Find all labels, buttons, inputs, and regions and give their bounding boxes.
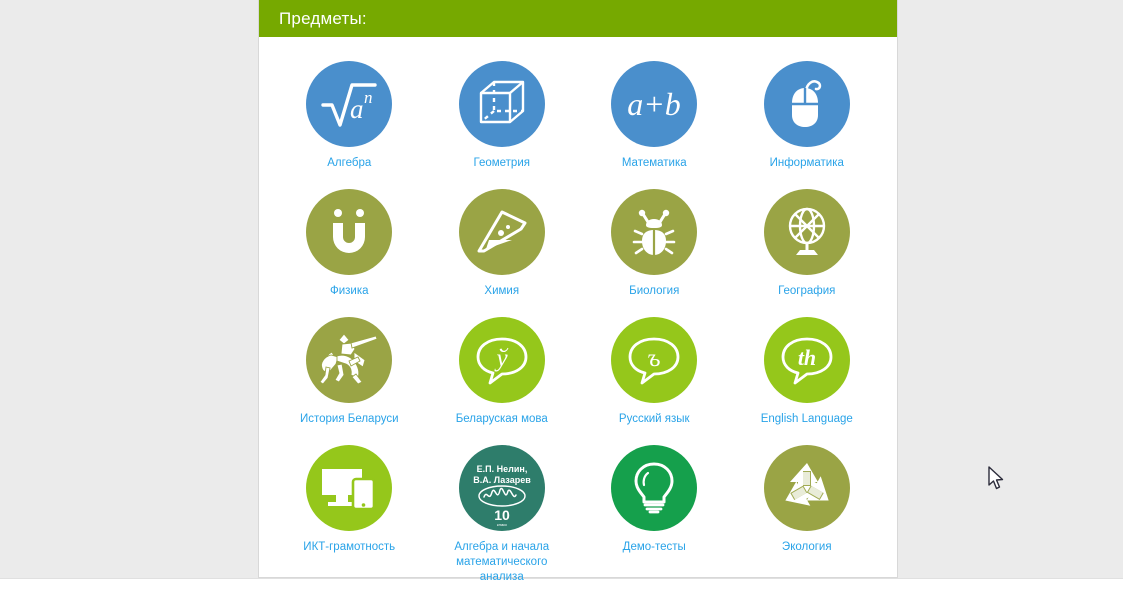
subject-label: Геометрия	[474, 156, 530, 171]
subject-icon-circle	[459, 189, 545, 275]
magnet-icon	[325, 206, 373, 258]
subject-icon-circle	[306, 189, 392, 275]
textbook-authors-line1: Е.П. Нелин,	[476, 464, 527, 474]
subject-item-belarusian-language[interactable]: ў Беларуская мова	[426, 311, 579, 427]
page-root: Предметы: a n Алгебра	[0, 0, 1123, 589]
speech-bubble-u-icon: ў	[474, 333, 530, 387]
subject-icon-circle: a n	[306, 61, 392, 147]
lightbulb-icon	[631, 460, 677, 516]
subject-icon-circle	[306, 317, 392, 403]
subject-item-algebra-analysis[interactable]: Е.П. Нелин, В.А. Лазарев 10 класс Алгебр…	[426, 439, 579, 585]
subject-icon-circle	[764, 189, 850, 275]
subject-icon-circle: ў	[459, 317, 545, 403]
subject-item-english-language[interactable]: th English Language	[731, 311, 884, 427]
subject-item-mathematics[interactable]: a+b Математика	[578, 55, 731, 171]
subject-label: Физика	[330, 284, 369, 299]
subject-label: English Language	[761, 412, 853, 427]
subject-item-ecology[interactable]: Экология	[731, 439, 884, 585]
svg-text:n: n	[364, 88, 373, 107]
subject-item-physics[interactable]: Физика	[273, 183, 426, 299]
a-plus-b-icon: a+b	[619, 81, 689, 127]
subject-item-russian-language[interactable]: ъ Русский язык	[578, 311, 731, 427]
computer-mouse-icon	[782, 77, 832, 131]
subject-label: Алгебра и начала математического анализа	[442, 540, 562, 585]
svg-text:a+b: a+b	[627, 86, 681, 122]
subject-label: Алгебра	[327, 156, 371, 171]
recycle-icon	[778, 460, 836, 516]
subjects-grid: a n Алгебра	[259, 55, 897, 585]
subject-icon-circle: a+b	[611, 61, 697, 147]
textbook-cover-icon: Е.П. Нелин, В.А. Лазарев 10 класс	[459, 445, 545, 531]
subject-item-demo-tests[interactable]: Демо-тесты	[578, 439, 731, 585]
subject-icon-circle: ъ	[611, 317, 697, 403]
subject-label: География	[778, 284, 835, 299]
subject-label: Биология	[629, 284, 679, 299]
globe-stand-icon	[781, 205, 833, 259]
subject-item-geography[interactable]: География	[731, 183, 884, 299]
subject-item-geometry[interactable]: Геометрия	[426, 55, 579, 171]
svg-text:th: th	[798, 345, 816, 370]
textbook-authors-line2: В.А. Лазарев	[473, 475, 531, 485]
subject-icon-circle: Е.П. Нелин, В.А. Лазарев 10 класс	[459, 445, 545, 531]
subject-icon-circle	[611, 189, 697, 275]
subject-item-biology[interactable]: Биология	[578, 183, 731, 299]
textbook-grade: 10	[494, 507, 510, 523]
subject-label: Информатика	[770, 156, 844, 171]
subject-icon-circle	[306, 445, 392, 531]
subjects-card-header: Предметы:	[259, 0, 897, 37]
svg-text:ў: ў	[493, 345, 508, 372]
subject-label: Химия	[484, 284, 519, 299]
subject-icon-circle	[764, 61, 850, 147]
svg-text:a: a	[350, 94, 364, 124]
subjects-card-body: a n Алгебра	[259, 37, 897, 585]
subject-item-ict-literacy[interactable]: ИКТ-грамотность	[273, 439, 426, 585]
page-title: Предметы:	[279, 9, 367, 29]
beetle-icon	[631, 206, 677, 258]
subject-item-chemistry[interactable]: Химия	[426, 183, 579, 299]
subjects-card: Предметы: a n Алгебра	[258, 0, 898, 578]
subject-label: Русский язык	[619, 412, 690, 427]
subject-item-algebra[interactable]: a n Алгебра	[273, 55, 426, 171]
subject-item-informatics[interactable]: Информатика	[731, 55, 884, 171]
knight-horse-pahonia-icon	[318, 330, 380, 390]
speech-bubble-hard-sign-icon: ъ	[626, 333, 682, 387]
speech-bubble-th-icon: th	[779, 333, 835, 387]
subject-icon-circle	[764, 445, 850, 531]
textbook-grade-sub: класс	[497, 522, 507, 527]
subject-label: ИКТ-грамотность	[303, 540, 395, 555]
subject-label: Экология	[782, 540, 832, 555]
svg-text:ъ: ъ	[648, 345, 661, 372]
square-root-a-n-icon: a n	[319, 78, 379, 130]
flask-icon	[474, 207, 530, 257]
subject-icon-circle	[611, 445, 697, 531]
subject-label: Беларуская мова	[456, 412, 548, 427]
cube-icon	[476, 78, 528, 130]
monitor-tablet-icon	[320, 465, 378, 511]
subject-label: Математика	[622, 156, 687, 171]
subject-label: История Беларуси	[300, 412, 399, 427]
subject-item-belarus-history[interactable]: История Беларуси	[273, 311, 426, 427]
subject-label: Демо-тесты	[623, 540, 686, 555]
subject-icon-circle	[459, 61, 545, 147]
subject-icon-circle: th	[764, 317, 850, 403]
